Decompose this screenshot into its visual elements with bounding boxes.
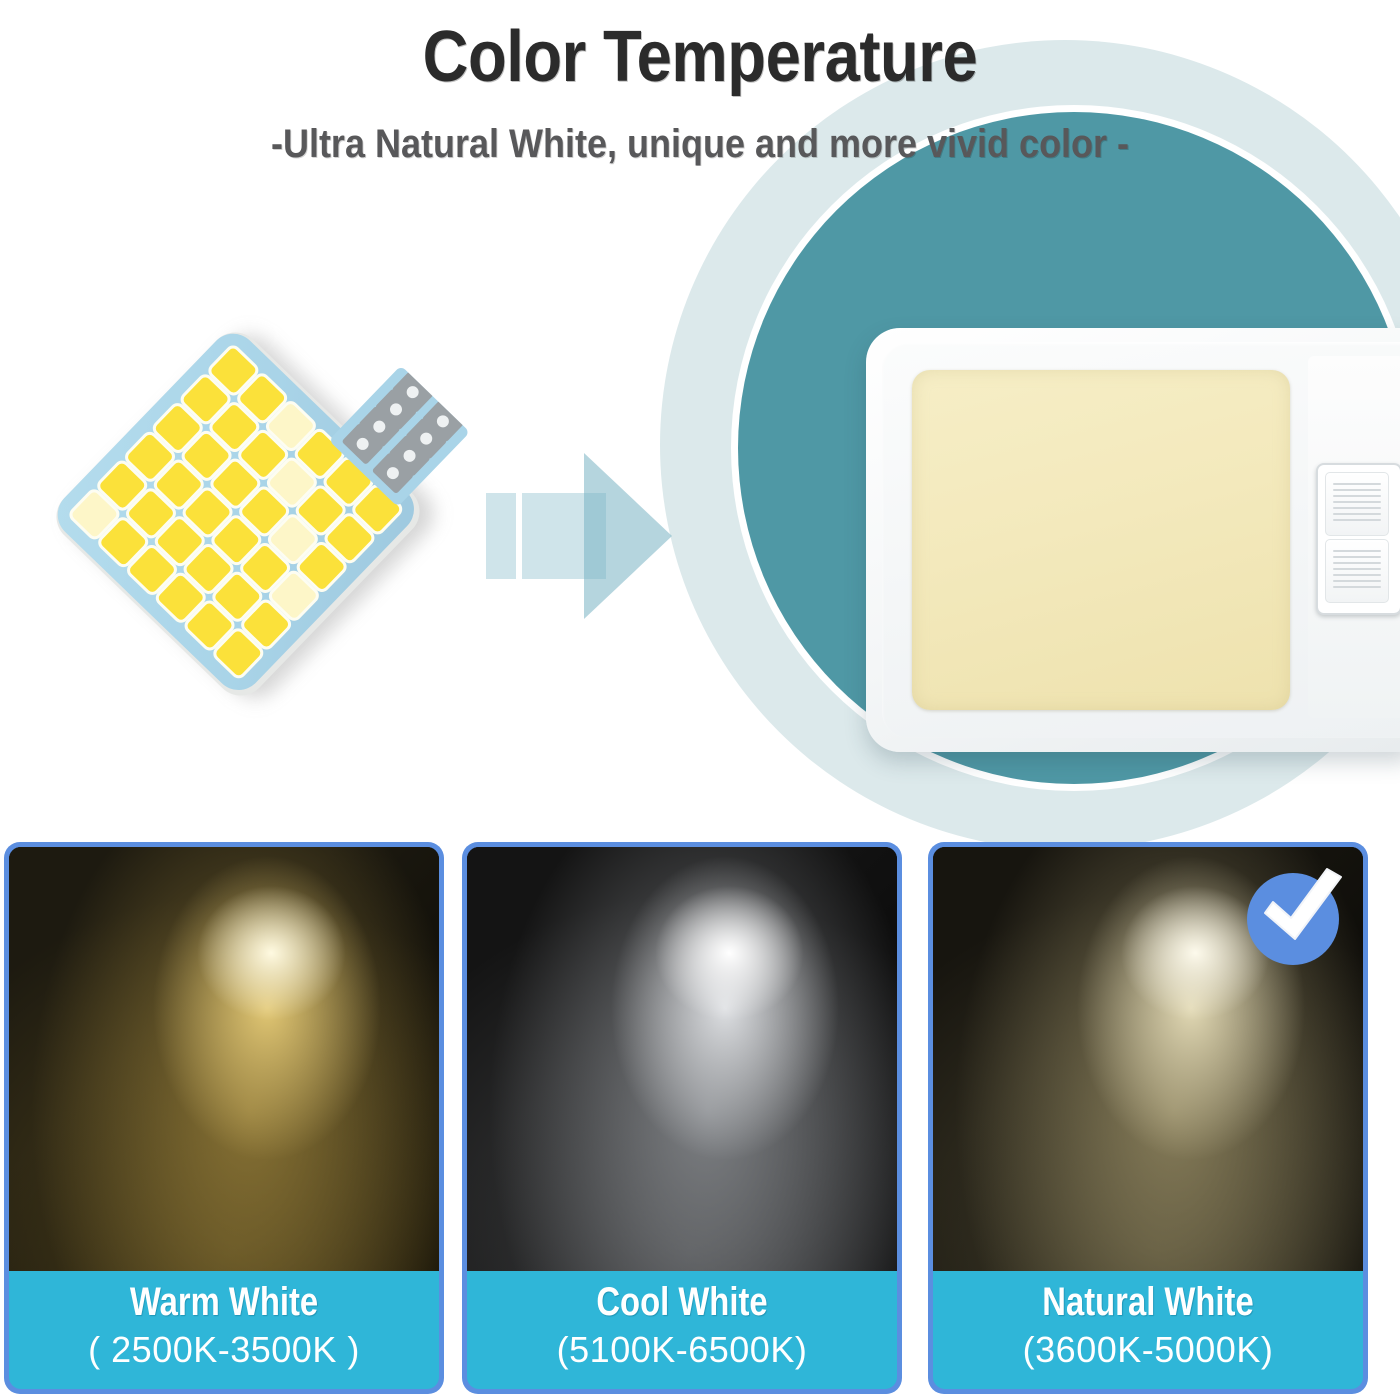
beam-photo-cool — [467, 847, 897, 1271]
panel-title-natural: Natural White — [972, 1277, 1325, 1327]
rocker-rib — [1333, 580, 1381, 582]
rocker-rib — [1333, 562, 1381, 564]
led-chip-module — [40, 318, 440, 728]
rocker-rib — [1333, 513, 1381, 515]
rocker-rib — [1333, 550, 1381, 552]
rocker-switch[interactable] — [1316, 463, 1400, 615]
rocker-rib — [1333, 483, 1381, 485]
panel-label-warm: Warm White ( 2500K-3500K ) — [9, 1271, 439, 1389]
transition-arrow-head — [584, 453, 672, 619]
light-beam-cool — [467, 847, 897, 1271]
infographic-root: Color Temperature -Ultra Natural White, … — [0, 0, 1400, 1400]
panel-kelvin-range-cool: (5100K-6500K) — [467, 1327, 897, 1373]
rocker-rib — [1333, 501, 1381, 503]
rocker-rib — [1333, 568, 1381, 570]
chip-pcb-surface — [48, 324, 424, 700]
beam-photo-warm — [9, 847, 439, 1271]
rv-dome-light-fixture — [866, 328, 1400, 752]
led-chip-board-rotated — [46, 322, 431, 707]
page-subtitle: -Ultra Natural White, unique and more vi… — [70, 122, 1330, 167]
rocker-rib — [1333, 495, 1381, 497]
rocker-rib — [1333, 586, 1381, 588]
rocker-switch-lower[interactable] — [1325, 539, 1389, 603]
diffuser-lens — [912, 370, 1290, 710]
comparison-panel-natural[interactable]: Natural White (3600K-5000K) — [928, 842, 1368, 1394]
light-beam-warm — [9, 847, 439, 1271]
check-badge — [1247, 873, 1339, 965]
rocker-rib — [1333, 556, 1381, 558]
panel-kelvin-range-warm: ( 2500K-3500K ) — [9, 1327, 439, 1373]
checkmark-icon — [1243, 855, 1355, 967]
beam-photo-natural — [933, 847, 1363, 1271]
rocker-rib — [1333, 574, 1381, 576]
transition-arrow-tick — [486, 493, 516, 579]
rocker-rib — [1333, 489, 1381, 491]
rocker-rib — [1333, 519, 1381, 521]
panel-label-natural: Natural White (3600K-5000K) — [933, 1271, 1363, 1389]
page-title: Color Temperature — [84, 16, 1316, 98]
panel-title-warm: Warm White — [48, 1277, 401, 1327]
panel-label-cool: Cool White (5100K-6500K) — [467, 1271, 897, 1389]
comparison-panel-cool[interactable]: Cool White (5100K-6500K) — [462, 842, 902, 1394]
rocker-rib — [1333, 507, 1381, 509]
panel-title-cool: Cool White — [506, 1277, 859, 1327]
comparison-panel-warm[interactable]: Warm White ( 2500K-3500K ) — [4, 842, 444, 1394]
rocker-switch-upper[interactable] — [1325, 472, 1389, 536]
panel-kelvin-range-natural: (3600K-5000K) — [933, 1327, 1363, 1373]
